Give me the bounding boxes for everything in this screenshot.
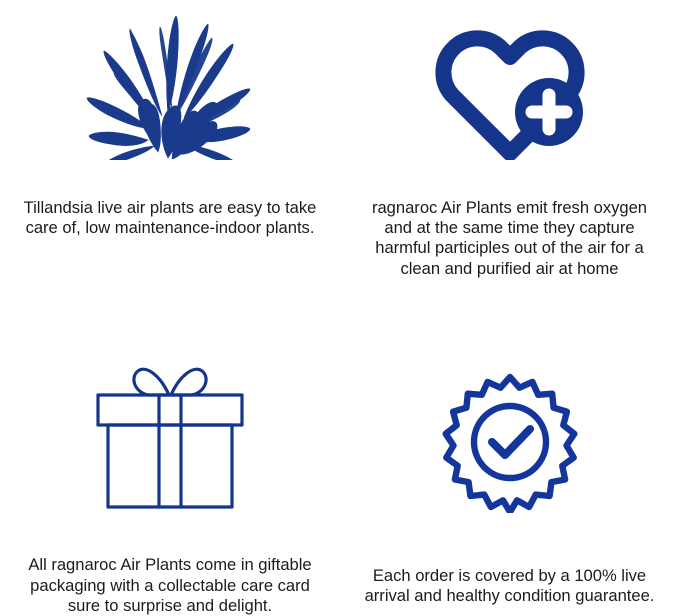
verified-badge-icon-wrapper — [340, 308, 679, 513]
heart-plus-icon — [430, 15, 590, 160]
air-plant-icon — [80, 10, 260, 160]
feature-grid: Tillandsia live air plants are easy to t… — [0, 0, 679, 616]
feature-caption: ragnaroc Air Plants emit fresh oxygen an… — [349, 198, 671, 279]
feature-card-fresh-oxygen: ragnaroc Air Plants emit fresh oxygen an… — [340, 0, 679, 308]
feature-caption: Tillandsia live air plants are easy to t… — [2, 198, 338, 238]
feature-caption: Each order is covered by a 100% live arr… — [345, 566, 675, 606]
heart-plus-icon-wrapper — [340, 0, 679, 160]
feature-card-air-plant-care: Tillandsia live air plants are easy to t… — [0, 0, 340, 308]
feature-card-live-arrival-guarantee: Each order is covered by a 100% live arr… — [340, 308, 679, 616]
feature-caption: All ragnaroc Air Plants come in giftable… — [5, 555, 335, 616]
gift-box-icon-wrapper — [0, 308, 340, 509]
air-plant-icon-wrapper — [0, 0, 340, 160]
gift-box-icon — [90, 359, 250, 509]
verified-badge-icon — [440, 371, 580, 513]
feature-card-giftable-packaging: All ragnaroc Air Plants come in giftable… — [0, 308, 340, 616]
